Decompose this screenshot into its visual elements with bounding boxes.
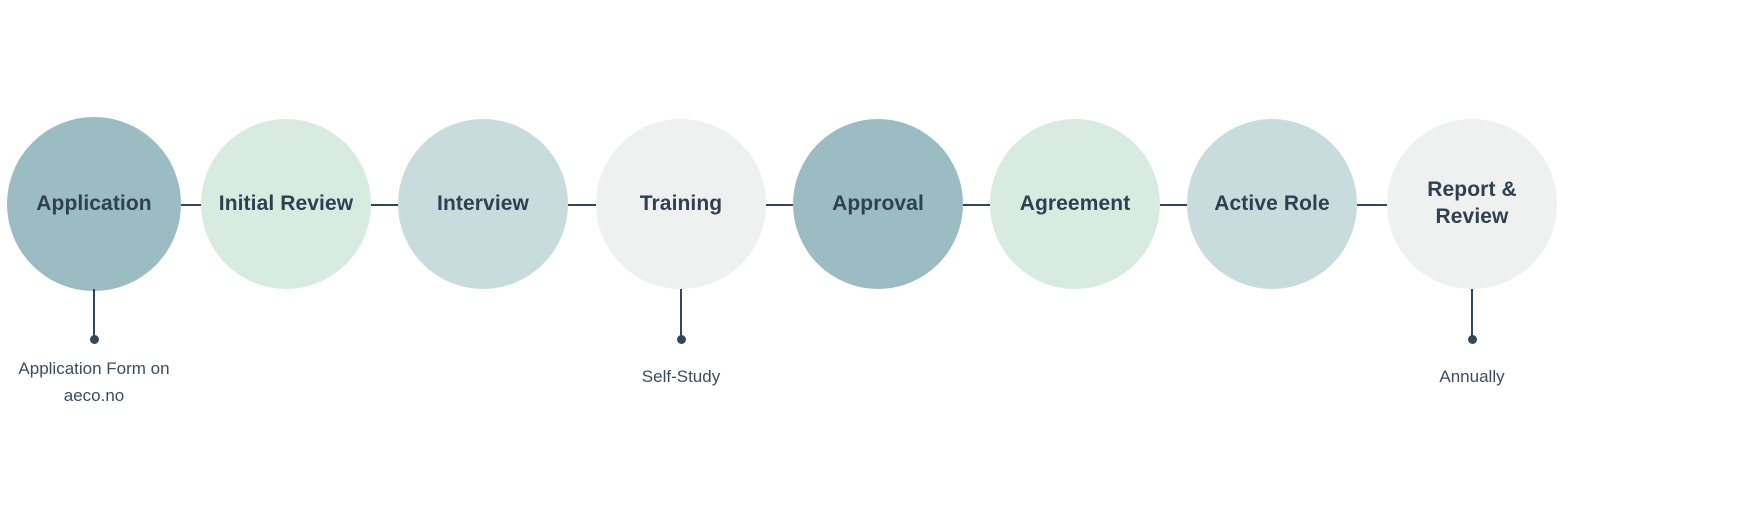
annotation-text-2: Self-Study: [551, 363, 811, 390]
connector-line-6: [1160, 204, 1187, 206]
step-label: Initial Review: [211, 191, 361, 218]
connector-line-7: [1357, 204, 1387, 206]
process-step-report-review[interactable]: Report & Review: [1387, 119, 1557, 289]
connector-line-5: [963, 204, 990, 206]
annotation-leader-line-2: [680, 289, 682, 339]
annotation-dot-1: [90, 335, 99, 344]
process-step-interview[interactable]: Interview: [398, 119, 568, 289]
annotation-leader-line-1: [93, 289, 95, 339]
process-step-application[interactable]: Application: [7, 117, 181, 291]
step-label: Training: [632, 191, 730, 218]
process-flow-diagram: ApplicationInitial ReviewInterviewTraini…: [0, 0, 1763, 507]
annotation-text-3: Annually: [1342, 363, 1602, 390]
step-label: Approval: [824, 191, 932, 218]
annotation-text-1: Application Form on aeco.no: [0, 355, 224, 409]
step-label: Interview: [429, 191, 537, 218]
process-step-initial-review[interactable]: Initial Review: [201, 119, 371, 289]
annotation-leader-line-3: [1471, 289, 1473, 339]
process-step-agreement[interactable]: Agreement: [990, 119, 1160, 289]
step-label: Agreement: [1012, 191, 1139, 218]
process-step-active-role[interactable]: Active Role: [1187, 119, 1357, 289]
connector-line-3: [568, 204, 596, 206]
step-label: Active Role: [1206, 191, 1337, 218]
process-step-training[interactable]: Training: [596, 119, 766, 289]
annotation-dot-3: [1468, 335, 1477, 344]
annotation-dot-2: [677, 335, 686, 344]
step-label: Report & Review: [1419, 177, 1524, 231]
process-step-approval[interactable]: Approval: [793, 119, 963, 289]
connector-line-2: [371, 204, 398, 206]
connector-line-4: [766, 204, 793, 206]
step-label: Application: [28, 191, 159, 218]
